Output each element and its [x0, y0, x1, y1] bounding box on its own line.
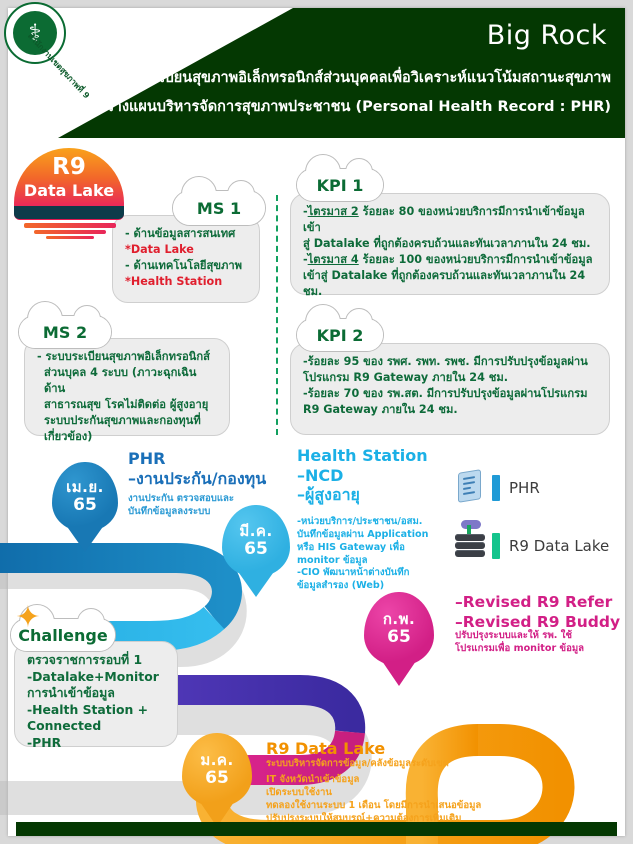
milestone-title-march: Health Station –NCD –ผู้สูงอายุ: [297, 446, 428, 505]
kpi1-line-1: -ไตรมาส 2 ร้อยละ 80 ของหน่วยบริการมีการน…: [303, 204, 597, 236]
panel-ms1-body: - ด้านข้อมูลสารสนเทศ *Data Lake - ด้านเท…: [113, 216, 259, 300]
kpi2-line-2: โปรแกรม R9 Gateway ภายใน 24 ชม.: [303, 370, 597, 386]
panel-kpi1-body: -ไตรมาส 2 ร้อยละ 80 ของหน่วยบริการมีการน…: [291, 194, 609, 309]
badge-ripple-3: [46, 236, 94, 239]
ms2-line-4: ระบบประกันสุขภาพและกองทุนที่: [37, 413, 217, 429]
star-icon: ✦: [14, 604, 42, 632]
january-title-line-1: R9 Data Lake: [266, 739, 385, 758]
challenge-line-2: -Datalake+Monitor: [27, 669, 165, 686]
header-subtitle-line-2: และการวางแผนบริหารจัดการสุขภาพประชาชน (P…: [55, 95, 611, 118]
badge-title-line-1: R9: [14, 154, 124, 180]
april-title-line-1: PHR: [128, 449, 266, 469]
milestone-desc-february: ปรับปรุงระบบและให้ รพ. ใช้ โปรแกรมเพื่อ …: [455, 630, 584, 656]
pin-month-february: ก.พ.: [383, 611, 415, 628]
january-subtitle: ระบบบริหารจัดการข้อมูล/คลังข้อมูลระดับเข…: [266, 758, 449, 771]
kpi1-line-2: สู่ Datalake ที่ถูกต้องครบถ้วนและทันเวลา…: [303, 236, 597, 252]
milestone-pin-february[interactable]: ก.พ. 65: [364, 592, 434, 666]
challenge-line-3: การนำเข้าข้อมูล: [27, 685, 165, 702]
april-title-line-2: –งานประกัน/กองทุน: [128, 469, 266, 489]
milestone-desc-january: IT จังหวัดนำเข้าข้อมูล เปิดระบบใช้งาน ทด…: [266, 773, 481, 825]
panel-kpi1: -ไตรมาส 2 ร้อยละ 80 ของหน่วยบริการมีการน…: [290, 193, 610, 295]
march-desc-line-2: บันทึกข้อมูลผ่าน Application: [297, 529, 428, 542]
pin-month-april: เม.ย.: [66, 479, 104, 496]
january-desc-line-1: IT จังหวัดนำเข้าข้อมูล: [266, 773, 481, 786]
cloud-tab-kpi1: KPI 1: [296, 168, 384, 202]
panel-ms2: - ระบบระเบียนสุขภาพอิเล็กทรอนิกส์ ส่วนบุ…: [24, 338, 230, 436]
page-title: Big Rock: [487, 20, 607, 51]
january-desc-line-3: ทดลองใช้งานระบบ 1 เดือน โดยมีการนำเสนอข้…: [266, 799, 481, 812]
pin-label-february: ก.พ. 65: [364, 592, 434, 666]
april-desc-line-2: บันทึกข้อมูลลงระบบ: [128, 506, 234, 519]
kpi1-line-4: เข้าสู่ Datalake ที่ถูกต้องครบถ้วนและทัน…: [303, 268, 597, 300]
kpi1-quarter-4: ไตรมาส 4: [308, 253, 359, 266]
panel-challenge: ตรวจราชการรอบที่ 1 -Datalake+Monitor การ…: [14, 641, 178, 747]
ms1-line-2: *Data Lake: [125, 242, 247, 258]
milestone-subtitle-january: ระบบบริหารจัดการข้อมูล/คลังข้อมูลระดับเข…: [266, 758, 449, 771]
march-desc-line-5: -CIO พัฒนาหน้าต่างบันทึก: [297, 567, 428, 580]
march-title-line-2: –NCD: [297, 466, 428, 486]
milestone-title-february: –Revised R9 Refer –Revised R9 Buddy: [455, 592, 620, 632]
footer-bar: [16, 822, 617, 836]
panel-challenge-body: ตรวจราชการรอบที่ 1 -Datalake+Monitor การ…: [15, 642, 177, 762]
april-desc-line-1: งานประกัน ตรวจสอบและ: [128, 493, 234, 506]
ms1-line-3: - ด้านเทคโนโลยีสุขภาพ: [125, 258, 247, 274]
kpi1-quarter-2: ไตรมาส 2: [308, 205, 359, 218]
february-desc-line-2: โปรแกรมเพื่อ monitor ข้อมูล: [455, 643, 584, 656]
legend-color-bar-phr: [492, 475, 500, 501]
cloud-label-kpi1: KPI 1: [297, 169, 383, 201]
pin-month-march: มี.ค.: [239, 523, 272, 540]
cloud-tab-ms2: MS 2: [18, 315, 112, 349]
r9-data-lake-badge: R9 Data Lake: [14, 148, 130, 240]
pin-year-january: 65: [205, 769, 229, 788]
cloud-tab-kpi2: KPI 2: [296, 318, 384, 352]
kpi2-line-4: R9 Gateway ภายใน 24 ชม.: [303, 402, 597, 418]
legend-label-phr: PHR: [509, 479, 540, 497]
pin-year-february: 65: [387, 628, 411, 647]
section-divider: [276, 195, 278, 435]
pin-label-april: เม.ย. 65: [52, 462, 118, 532]
badge-title-line-2: Data Lake: [14, 181, 124, 200]
cloud-tab-ms1: MS 1: [172, 190, 266, 226]
ms1-line-4: *Health Station: [125, 274, 247, 290]
challenge-line-5: Connected: [27, 718, 165, 735]
badge-band: [14, 206, 124, 219]
pin-year-april: 65: [73, 496, 97, 515]
ms2-line-2: ส่วนบุคล 4 ระบบ (ภาวะฉุกเฉินด้าน: [37, 365, 217, 397]
badge-ripple-1: [24, 223, 116, 228]
panel-ms1: - ด้านข้อมูลสารสนเทศ *Data Lake - ด้านเท…: [112, 215, 260, 303]
february-desc-line-1: ปรับปรุงระบบและให้ รพ. ใช้: [455, 630, 584, 643]
challenge-line-6: -PHR: [27, 735, 165, 752]
challenge-line-4: -Health Station +: [27, 702, 165, 719]
badge-ripple-2: [34, 230, 106, 234]
legend-label-r9: R9 Data Lake: [509, 537, 609, 555]
server-stack-shape: [455, 534, 485, 560]
panel-kpi2: -ร้อยละ 95 ของ รพศ. รพท. รพช. มีการปรับป…: [290, 343, 610, 435]
cloud-glyph-icon: [461, 520, 481, 529]
milestone-title-january: R9 Data Lake: [266, 739, 385, 758]
ms1-line-1: - ด้านข้อมูลสารสนเทศ: [125, 226, 247, 242]
panel-kpi2-body: -ร้อยละ 95 ของ รพศ. รพท. รพช. มีการปรับป…: [291, 344, 609, 428]
document-icon: [452, 468, 488, 508]
infographic-page: Big Rock ระเบียนสุขภาพอิเล็กทรอนิกส์ส่วน…: [0, 0, 633, 844]
milestone-pin-april[interactable]: เม.ย. 65: [52, 462, 118, 532]
page-header: Big Rock ระเบียนสุขภาพอิเล็กทรอนิกส์ส่วน…: [8, 8, 625, 138]
march-desc-line-4: monitor ข้อมูล: [297, 555, 428, 568]
legend-item-r9-data-lake: R9 Data Lake: [452, 526, 609, 566]
kpi2-line-1: -ร้อยละ 95 ของ รพศ. รพท. รพช. มีการปรับป…: [303, 354, 597, 370]
ms2-line-5: เกี่ยวข้อง): [37, 429, 217, 445]
march-desc-line-1: -หน่วยบริการ/ประชาชน/อสม.: [297, 516, 428, 529]
kpi1-rest-2: ร้อยละ 100 ของหน่วยบริการมีการนำเข้าข้อม…: [359, 253, 593, 266]
document-icon-shape: [458, 469, 481, 503]
cloud-label-ms1: MS 1: [173, 191, 265, 225]
milestone-desc-april: งานประกัน ตรวจสอบและ บันทึกข้อมูลลงระบบ: [128, 493, 234, 519]
pin-month-january: ม.ค.: [200, 752, 233, 769]
pin-label-january: ม.ค. 65: [182, 733, 252, 807]
milestone-title-april: PHR –งานประกัน/กองทุน: [128, 449, 266, 489]
ms2-line-1: - ระบบระเบียนสุขภาพอิเล็กทรอนิกส์: [37, 349, 217, 365]
server-stack-icon: [452, 526, 488, 566]
march-desc-line-6: ข้อมูลสำรอง (Web): [297, 580, 428, 593]
january-desc-line-2: เปิดระบบใช้งาน: [266, 786, 481, 799]
panel-ms2-body: - ระบบระเบียนสุขภาพอิเล็กทรอนิกส์ ส่วนบุ…: [25, 339, 229, 454]
milestone-desc-march: -หน่วยบริการ/ประชาชน/อสม. บันทึกข้อมูลผ่…: [297, 516, 428, 593]
legend-item-phr: PHR: [452, 468, 609, 508]
milestone-pin-january[interactable]: ม.ค. 65: [182, 733, 252, 807]
march-desc-line-3: หรือ HIS Gateway เพื่อ: [297, 542, 428, 555]
pin-year-march: 65: [244, 540, 268, 559]
legend: PHR R9 Data Lake: [452, 468, 609, 584]
cloud-label-kpi2: KPI 2: [297, 319, 383, 351]
legend-color-bar-r9: [492, 533, 500, 559]
challenge-line-1: ตรวจราชการรอบที่ 1: [27, 652, 165, 669]
kpi2-line-3: -ร้อยละ 70 ของ รพ.สต. มีการปรับปรุงข้อมู…: [303, 386, 597, 402]
ms2-line-3: สาธารณสุข โรคไม่ติดต่อ ผู้สูงอายุ: [37, 397, 217, 413]
cloud-label-ms2: MS 2: [19, 316, 111, 348]
march-title-line-3: –ผู้สูงอายุ: [297, 485, 428, 505]
kpi1-line-3: -ไตรมาส 4 ร้อยละ 100 ของหน่วยบริการมีการ…: [303, 252, 597, 268]
march-title-line-1: Health Station: [297, 446, 428, 466]
header-subtitle-line-1: ระเบียนสุขภาพอิเล็กทรอนิกส์ส่วนบุคคลเพื่…: [144, 66, 611, 89]
february-title-line-1: –Revised R9 Refer: [455, 592, 620, 612]
